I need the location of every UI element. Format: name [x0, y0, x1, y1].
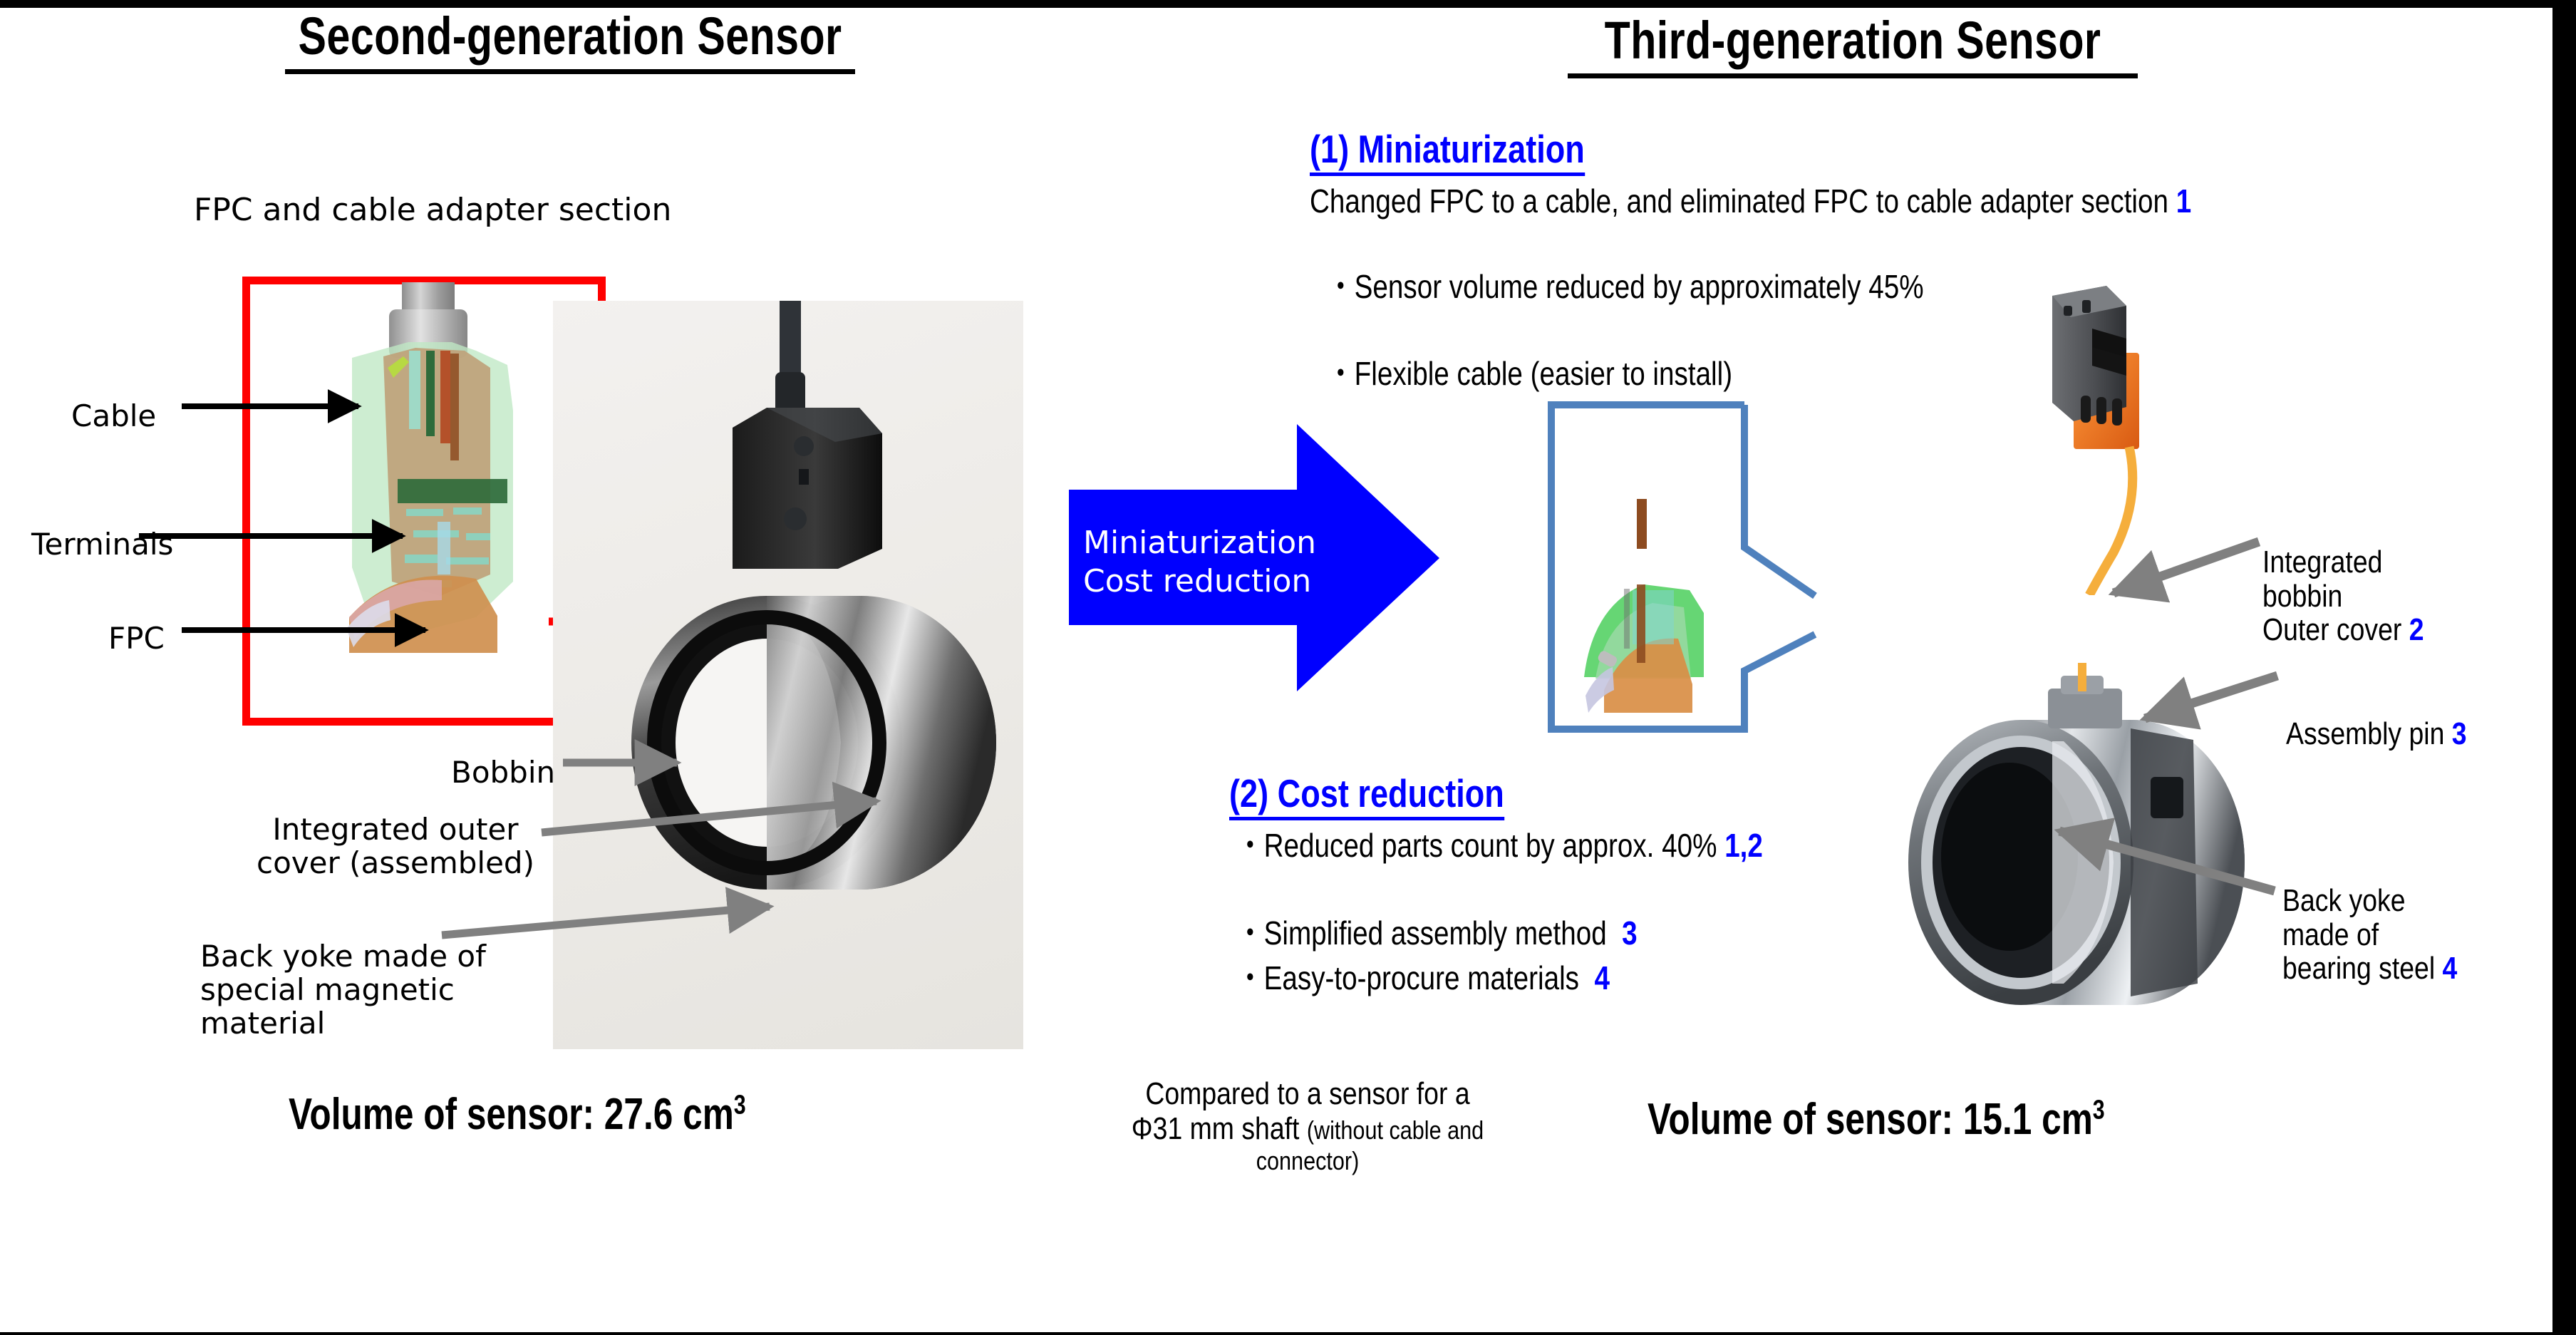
volume-third-gen: Volume of sensor: 15.1 cm3 [1647, 1094, 2105, 1145]
slide-canvas: Second-generation Sensor Third-generatio… [0, 0, 2576, 1335]
second-gen-black-leaders [182, 385, 481, 649]
comparison-note-line-1: Compared to a sensor for a [1077, 1076, 1538, 1111]
ref-3: 3 [1622, 914, 1637, 952]
cost-bullet-3-text: ・Easy-to-procure materials [1236, 959, 1594, 996]
third-gen-cad-cutaway [1564, 499, 1778, 727]
label-assembly-pin-text: Assembly pin [2286, 716, 2452, 751]
label-terminals: Terminals [31, 527, 173, 561]
volume-third-gen-exponent: 3 [2093, 1095, 2105, 1125]
page-title-third-gen: Third-generation Sensor [1568, 10, 2138, 78]
volume-second-gen-exponent: 3 [734, 1090, 746, 1120]
label-assembly-pin: Assembly pin 3 [2286, 717, 2467, 751]
ref-4: 4 [1594, 959, 1609, 996]
heading-miniaturization: (1) Miniaturization [1310, 126, 1585, 176]
volume-second-gen-text: Volume of sensor: 27.6 cm [289, 1090, 734, 1139]
miniaturization-body-text: Changed FPC to a cable, and eliminated F… [1310, 182, 2176, 220]
label-bobbin: Bobbin [451, 756, 555, 789]
comparison-note-paren-1: (without cable and [1307, 1115, 1484, 1145]
comparison-note-line-2: Φ31 mm shaft (without cable and [1077, 1111, 1538, 1146]
label-integrated-bobbin-text: Integrated bobbin Outer cover [2262, 545, 2409, 647]
label-back-yoke-text: Back yoke made of bearing steel [2282, 883, 2443, 986]
cost-bullet-2: ・Simplified assembly method 3 [1236, 916, 1955, 951]
cost-bullet-2-text: ・Simplified assembly method [1236, 914, 1622, 952]
ref-1: 1 [2176, 182, 2191, 220]
miniaturization-body: Changed FPC to a cable, and eliminated F… [1310, 184, 2195, 219]
volume-third-gen-text: Volume of sensor: 15.1 cm [1647, 1095, 2093, 1144]
ref-4b: 4 [2443, 951, 2458, 986]
cost-bullet-1-text: ・Reduced parts count by approx. 40% [1236, 827, 1724, 864]
label-cable: Cable [71, 399, 156, 433]
comparison-note: Compared to a sensor for a Φ31 mm shaft … [1077, 1076, 1538, 1175]
ref-3b: 3 [2452, 716, 2467, 751]
ref-1-2: 1,2 [1724, 827, 1763, 864]
label-integrated-outer-cover: Integrated outer cover (assembled) [257, 813, 534, 880]
comparison-note-line-3: connector) [1077, 1147, 1538, 1175]
comparison-note-shaft: Φ31 mm shaft [1132, 1111, 1307, 1146]
ref-2: 2 [2409, 612, 2424, 647]
heading-cost-reduction: (2) Cost reduction [1229, 770, 1504, 820]
cost-bullet-1: ・Reduced parts count by approx. 40% 1,2 [1236, 828, 1955, 863]
second-gen-leader-arrows [542, 741, 941, 1026]
label-integrated-bobbin-outer-cover: Integrated bobbin Outer cover 2 [2262, 545, 2424, 647]
label-back-yoke-special-magnetic: Back yoke made of special magnetic mater… [200, 939, 486, 1040]
transition-arrow [1069, 424, 1439, 720]
label-back-yoke-bearing-steel: Back yoke made of bearing steel 4 [2282, 884, 2457, 986]
right-black-band [2552, 0, 2576, 1335]
cost-bullet-3: ・Easy-to-procure materials 4 [1236, 961, 1955, 996]
label-fpc: FPC [108, 622, 165, 655]
label-fpc-adapter-section: FPC and cable adapter section [194, 192, 671, 227]
bottom-black-band [0, 1332, 2576, 1335]
page-title-second-gen: Second-generation Sensor [285, 6, 855, 74]
volume-second-gen: Volume of sensor: 27.6 cm3 [289, 1089, 746, 1140]
